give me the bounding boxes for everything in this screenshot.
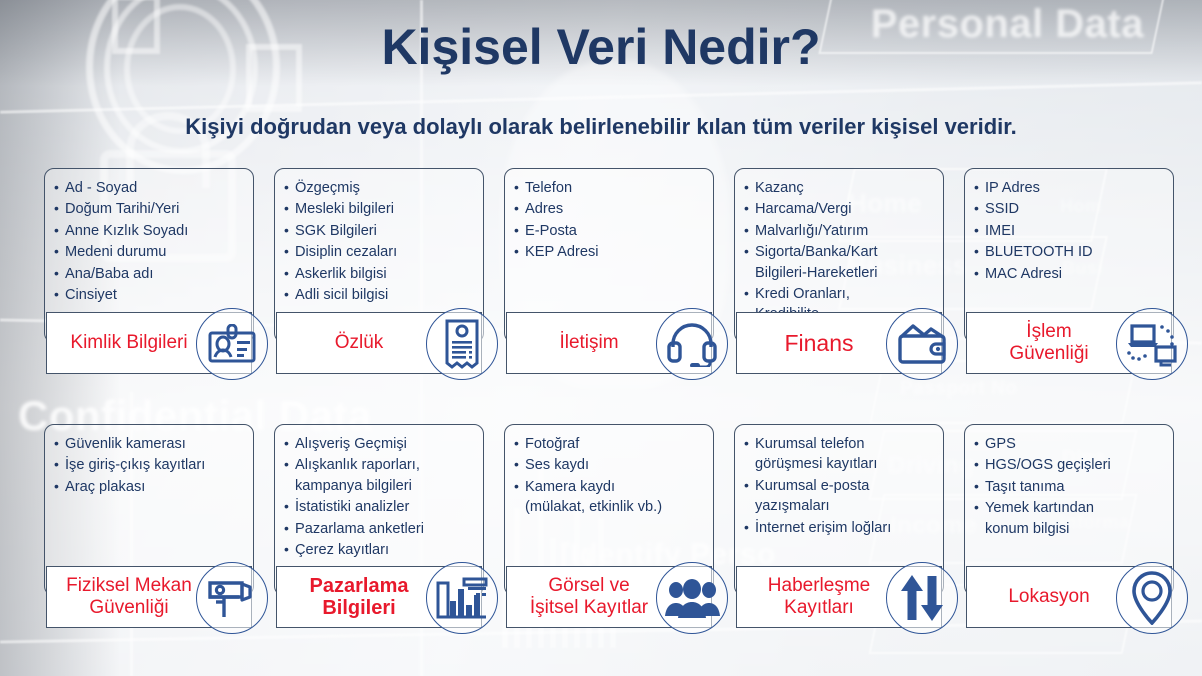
card-list-item: Cinsiyet <box>54 285 247 305</box>
security-camera-icon <box>196 562 268 634</box>
bar-chart-icon <box>426 562 498 634</box>
card-list-item: Fotoğraf <box>514 434 707 454</box>
card-list-item: Ses kaydı <box>514 455 707 475</box>
card-list-item: Harcama/Vergi <box>744 199 937 219</box>
card-list-item: Özgeçmiş <box>284 178 477 198</box>
card-list-item: Araç plakası <box>54 477 247 497</box>
card-list-item: Medeni durumu <box>54 242 247 262</box>
card-list-item: Anne Kızlık Soyadı <box>54 221 247 241</box>
card-item-list: Ad - SoyadDoğum Tarihi/YeriAnne Kızlık S… <box>45 169 253 305</box>
wallet-icon <box>886 308 958 380</box>
card-item-list: Güvenlik kamerasıİşe giriş-çıkış kayıtla… <box>45 425 253 497</box>
card-list-item: İşe giriş-çıkış kayıtları <box>54 455 247 475</box>
card-list-item: İnternet erişim loğları <box>744 518 937 538</box>
card-list-item: İstatistiki analizler <box>284 497 477 517</box>
card-list-item: HGS/OGS geçişleri <box>974 455 1167 475</box>
card-list-item: Taşıt tanıma <box>974 477 1167 497</box>
card-list-item: Güvenlik kamerası <box>54 434 247 454</box>
card-item-list: FotoğrafSes kaydıKamera kaydı (mülakat, … <box>505 425 713 518</box>
card-list-item: BLUETOOTH ID <box>974 242 1167 262</box>
card-item-list: KazançHarcama/VergiMalvarlığı/YatırımSig… <box>735 169 943 325</box>
card-list-item: GPS <box>974 434 1167 454</box>
slide-canvas: Personal Data Confidential Data [Identif… <box>0 0 1202 676</box>
card-list-item: SSID <box>974 199 1167 219</box>
headset-icon <box>656 308 728 380</box>
card-item-list: GPSHGS/OGS geçişleriTaşıt tanımaYemek ka… <box>965 425 1173 539</box>
card-list-item: Askerlik bilgisi <box>284 264 477 284</box>
card-list-item: Telefon <box>514 178 707 198</box>
card-list-item: Sigorta/Banka/Kart Bilgileri-Hareketleri <box>744 242 937 283</box>
card-item-list: IP AdresSSIDIMEIBLUETOOTH IDMAC Adresi <box>965 169 1173 284</box>
card-item-list: TelefonAdresE-PostaKEP Adresi <box>505 169 713 263</box>
card-list-item: Doğum Tarihi/Yeri <box>54 199 247 219</box>
card-list-item: Alışkanlık raporları, kampanya bilgileri <box>284 455 477 496</box>
card-list-item: Kurumsal telefon görüşmesi kayıtları <box>744 434 937 475</box>
card-list-item: Alışveriş Geçmişi <box>284 434 477 454</box>
card-list-item: Ana/Baba adı <box>54 264 247 284</box>
card-list-item: E-Posta <box>514 221 707 241</box>
card-list-item: Adli sicil bilgisi <box>284 285 477 305</box>
laptop-network-icon <box>1116 308 1188 380</box>
people-group-icon <box>656 562 728 634</box>
up-down-arrows-icon <box>886 562 958 634</box>
card-list-item: MAC Adresi <box>974 264 1167 284</box>
card-list-item: Kazanç <box>744 178 937 198</box>
card-list-item: Kurumsal e-posta yazışmaları <box>744 476 937 517</box>
card-item-list: Alışveriş GeçmişiAlışkanlık raporları, k… <box>275 425 483 560</box>
card-list-item: Adres <box>514 199 707 219</box>
card-list-item: Yemek kartından konum bilgisi <box>974 498 1167 539</box>
card-list-item: SGK Bilgileri <box>284 221 477 241</box>
card-list-item: IMEI <box>974 221 1167 241</box>
id-card-icon <box>196 308 268 380</box>
document-receipt-icon <box>426 308 498 380</box>
card-list-item: KEP Adresi <box>514 242 707 262</box>
card-list-item: Çerez kayıtları <box>284 540 477 560</box>
card-list-item: IP Adres <box>974 178 1167 198</box>
card-item-list: Kurumsal telefon görüşmesi kayıtlarıKuru… <box>735 425 943 538</box>
card-list-item: Disiplin cezaları <box>284 242 477 262</box>
card-list-item: Kamera kaydı (mülakat, etkinlik vb.) <box>514 477 707 518</box>
category-card-grid: Ad - SoyadDoğum Tarihi/YeriAnne Kızlık S… <box>0 0 1202 676</box>
map-pin-icon <box>1116 562 1188 634</box>
card-item-list: ÖzgeçmişMesleki bilgileriSGK BilgileriDi… <box>275 169 483 305</box>
card-list-item: Ad - Soyad <box>54 178 247 198</box>
card-list-item: Mesleki bilgileri <box>284 199 477 219</box>
card-list-item: Pazarlama anketleri <box>284 519 477 539</box>
card-list-item: Malvarlığı/Yatırım <box>744 221 937 241</box>
